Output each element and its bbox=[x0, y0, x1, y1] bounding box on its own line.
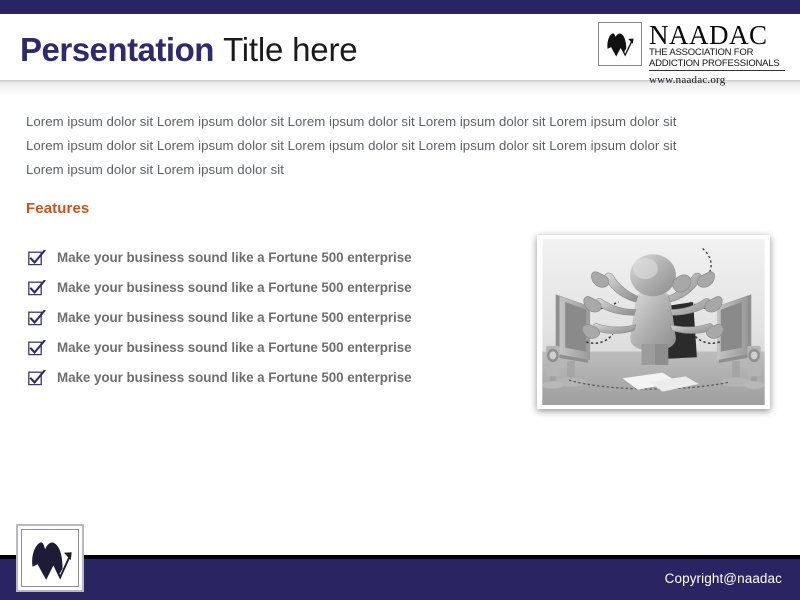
naadac-mark-icon bbox=[598, 22, 642, 66]
page-title: Persentation Title here bbox=[20, 30, 357, 70]
presentation-slide: Persentation Title here NAADAC THE ASSOC… bbox=[0, 0, 800, 600]
title-bold-part: Persentation bbox=[20, 31, 214, 68]
naadac-tagline: THE ASSOCIATION FOR ADDICTION PROFESSION… bbox=[649, 48, 785, 71]
body-paragraph: Lorem ipsum dolor sit Lorem ipsum dolor … bbox=[26, 110, 716, 182]
list-item-label: Make your business sound like a Fortune … bbox=[57, 248, 412, 267]
list-item: Make your business sound like a Fortune … bbox=[28, 278, 498, 300]
checkbox-checked-icon bbox=[28, 250, 48, 266]
list-item-label: Make your business sound like a Fortune … bbox=[57, 368, 412, 387]
list-item: Make your business sound like a Fortune … bbox=[28, 338, 498, 360]
checkbox-checked-icon bbox=[28, 280, 48, 296]
naadac-name: NAADAC bbox=[649, 22, 785, 48]
checkbox-checked-icon bbox=[28, 370, 48, 386]
list-item: Make your business sound like a Fortune … bbox=[28, 368, 498, 390]
footer-copyright: Copyright@naadac bbox=[665, 571, 782, 586]
list-item: Make your business sound like a Fortune … bbox=[28, 248, 498, 270]
checkbox-checked-icon bbox=[28, 340, 48, 356]
features-heading: Features bbox=[26, 200, 89, 217]
list-item-label: Make your business sound like a Fortune … bbox=[57, 308, 412, 327]
top-accent-band bbox=[0, 0, 800, 14]
naadac-logo: NAADAC THE ASSOCIATION FOR ADDICTION PRO… bbox=[598, 22, 790, 84]
naadac-url: www.naadac.org bbox=[649, 71, 785, 87]
multitasking-illustration-image bbox=[537, 235, 770, 409]
title-regular-part: Title here bbox=[223, 31, 357, 68]
features-list: Make your business sound like a Fortune … bbox=[28, 248, 498, 398]
list-item: Make your business sound like a Fortune … bbox=[28, 308, 498, 330]
checkbox-checked-icon bbox=[28, 310, 48, 326]
footer-naadac-mark-icon bbox=[16, 524, 84, 592]
naadac-logo-text: NAADAC THE ASSOCIATION FOR ADDICTION PRO… bbox=[649, 22, 785, 87]
naadac-tagline-line2: ADDICTION PROFESSIONALS bbox=[649, 59, 785, 70]
list-item-label: Make your business sound like a Fortune … bbox=[57, 338, 412, 357]
list-item-label: Make your business sound like a Fortune … bbox=[57, 278, 412, 297]
